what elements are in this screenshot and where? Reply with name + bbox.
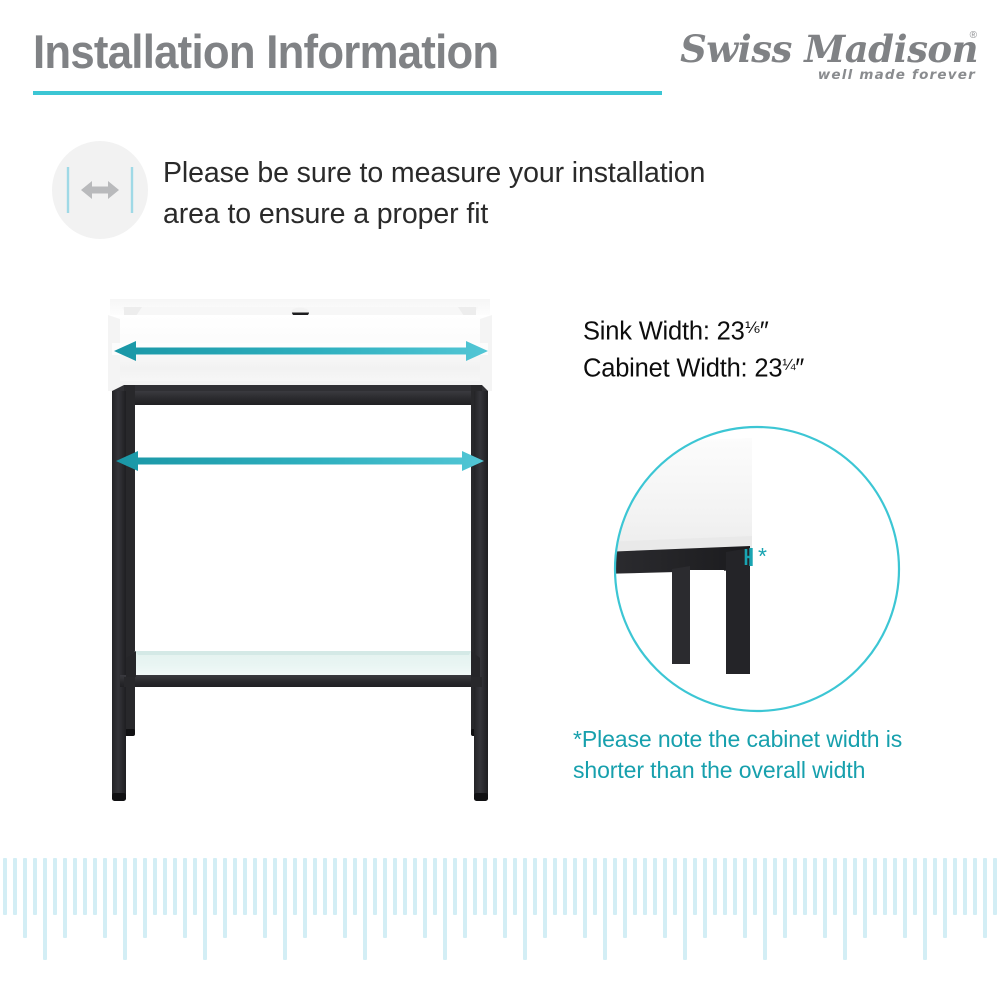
measuring-ruler-graphic: [0, 845, 1000, 975]
ruler-tick: [233, 858, 237, 915]
ruler-tick: [883, 858, 887, 915]
ruler-tick: [713, 858, 717, 915]
ruler-tick: [763, 858, 767, 960]
sink-width-unit: ″: [760, 318, 769, 346]
ruler-tick: [473, 858, 477, 915]
ruler-tick: [453, 858, 457, 915]
ruler-tick: [243, 858, 247, 915]
sink-width-value: 23: [717, 318, 745, 346]
ruler-tick: [283, 858, 287, 960]
ruler-tick: [623, 858, 627, 938]
ruler-tick: [953, 858, 957, 915]
ruler-tick: [363, 858, 367, 960]
ruler-tick: [323, 858, 327, 915]
ruler-tick: [803, 858, 807, 915]
ruler-tick: [753, 858, 757, 915]
ruler-tick: [263, 858, 267, 938]
ruler-tick: [633, 858, 637, 915]
rear-post: [672, 566, 690, 664]
ruler-tick: [133, 858, 137, 915]
front-left-leg: [112, 391, 126, 723]
ruler-tick: [3, 858, 7, 915]
ruler-tick: [963, 858, 967, 915]
ruler-tick: [573, 858, 577, 915]
ruler-tick: [143, 858, 147, 938]
ruler-tick: [523, 858, 527, 960]
ruler-tick: [93, 858, 97, 915]
ruler-tick: [413, 858, 417, 915]
ruler-tick: [583, 858, 587, 938]
ruler-tick: [813, 858, 817, 915]
ruler-tick: [343, 858, 347, 938]
ruler-tick: [823, 858, 827, 938]
ruler-tick: [253, 858, 257, 915]
ruler-tick: [693, 858, 697, 915]
ceramic-sink-basin: [108, 299, 492, 394]
ruler-tick: [603, 858, 607, 960]
measure-icon-background: [52, 141, 148, 239]
ruler-tick: [273, 858, 277, 915]
ruler-tick: [193, 858, 197, 915]
ruler-tick: [493, 858, 497, 915]
ruler-tick: [983, 858, 987, 938]
overhang-asterisk-marker: *: [758, 543, 767, 569]
sink-width-label: Sink Width:: [583, 318, 710, 346]
ruler-tick: [643, 858, 647, 915]
sink-width-fraction: ⅙: [745, 320, 760, 337]
ruler-tick: [873, 858, 877, 915]
ruler-tick: [223, 858, 227, 938]
ruler-tick: [53, 858, 57, 915]
ruler-tick: [553, 858, 557, 915]
title-underline: [33, 91, 662, 95]
front-corner-post: [726, 548, 750, 674]
cabinet-width-arrow: [116, 451, 484, 471]
ruler-tick: [383, 858, 387, 938]
ruler-tick: [543, 858, 547, 938]
ruler-tick: [843, 858, 847, 960]
ruler-tick: [33, 858, 37, 915]
ruler-tick: [43, 858, 47, 960]
ruler-tick: [103, 858, 107, 938]
sink-width-dimension: Sink Width: 23⅙″: [583, 312, 963, 349]
ruler-tick: [303, 858, 307, 938]
ruler-tick: [203, 858, 207, 960]
ruler-tick: [23, 858, 27, 938]
ruler-tick: [853, 858, 857, 915]
ruler-tick: [443, 858, 447, 960]
ruler-tick: [213, 858, 217, 915]
ruler-tick: [663, 858, 667, 938]
ruler-tick: [183, 858, 187, 938]
ruler-tick: [333, 858, 337, 915]
dimensions-list: Sink Width: 23⅙″ Cabinet Width: 23¼″: [583, 312, 963, 385]
ruler-tick: [683, 858, 687, 960]
installation-information-page: Installation Information Swiss Madison ®…: [0, 0, 1000, 1000]
cabinet-width-dimension: Cabinet Width: 23¼″: [583, 349, 963, 386]
ruler-tick: [503, 858, 507, 938]
ruler-tick: [163, 858, 167, 915]
cabinet-width-footnote: *Please note the cabinet width is shorte…: [573, 724, 973, 786]
horizontal-measure-arrow-icon: [65, 163, 135, 217]
brand-name: Swiss Madison: [678, 27, 978, 71]
ruler-tick: [293, 858, 297, 915]
ruler-tick: [973, 858, 977, 915]
ruler-tick: [403, 858, 407, 915]
ruler-tick: [943, 858, 947, 938]
ruler-tick: [83, 858, 87, 915]
ruler-tick: [793, 858, 797, 915]
ruler-tick: [863, 858, 867, 938]
ruler-tick: [903, 858, 907, 938]
corner-overhang-detail: *: [612, 424, 902, 714]
ruler-tick: [893, 858, 897, 915]
ruler-tick: [463, 858, 467, 938]
ruler-tick: [63, 858, 67, 938]
ruler-tick: [723, 858, 727, 915]
ruler-tick: [613, 858, 617, 915]
ruler-tick: [773, 858, 777, 915]
ruler-tick: [423, 858, 427, 938]
ruler-tick: [593, 858, 597, 915]
cabinet-width-label: Cabinet Width:: [583, 354, 747, 382]
ruler-tick: [913, 858, 917, 915]
brand-tagline: well made forever: [818, 67, 976, 83]
ruler-tick: [173, 858, 177, 915]
ruler-tick: [933, 858, 937, 915]
ruler-tick: [533, 858, 537, 915]
registered-trademark-icon: ®: [970, 30, 977, 41]
ruler-tick: [353, 858, 357, 915]
ruler-tick: [73, 858, 77, 915]
ruler-tick: [703, 858, 707, 938]
page-header: Installation Information Swiss Madison ®…: [0, 0, 1000, 110]
ruler-tick: [563, 858, 567, 915]
ruler-tick: [113, 858, 117, 915]
ruler-tick: [123, 858, 127, 960]
measure-notice: Please be sure to measure your installat…: [52, 140, 752, 250]
ruler-tick: [833, 858, 837, 915]
ruler-tick: [743, 858, 747, 938]
ruler-tick: [733, 858, 737, 915]
ruler-tick: [13, 858, 17, 915]
ruler-tick: [513, 858, 517, 915]
ruler-tick: [393, 858, 397, 915]
cabinet-width-unit: ″: [795, 354, 804, 382]
ruler-tick: [923, 858, 927, 960]
vanity-illustration: [80, 285, 520, 825]
cabinet-width-fraction: ¼: [782, 357, 795, 374]
ruler-tick: [373, 858, 377, 915]
detail-content: *: [612, 424, 902, 714]
ruler-tick: [993, 858, 997, 915]
ruler-tick: [653, 858, 657, 915]
ruler-tick: [673, 858, 677, 915]
ruler-tick: [313, 858, 317, 915]
ruler-tick: [783, 858, 787, 938]
ruler-tick: [433, 858, 437, 915]
metal-frame: [112, 385, 488, 801]
ruler-tick: [483, 858, 487, 915]
ruler-tick: [153, 858, 157, 915]
measure-notice-text: Please be sure to measure your installat…: [163, 153, 753, 235]
page-title: Installation Information: [33, 24, 498, 79]
brand-logo: Swiss Madison ® well made forever: [678, 27, 978, 89]
cabinet-width-value: 23: [754, 354, 782, 382]
